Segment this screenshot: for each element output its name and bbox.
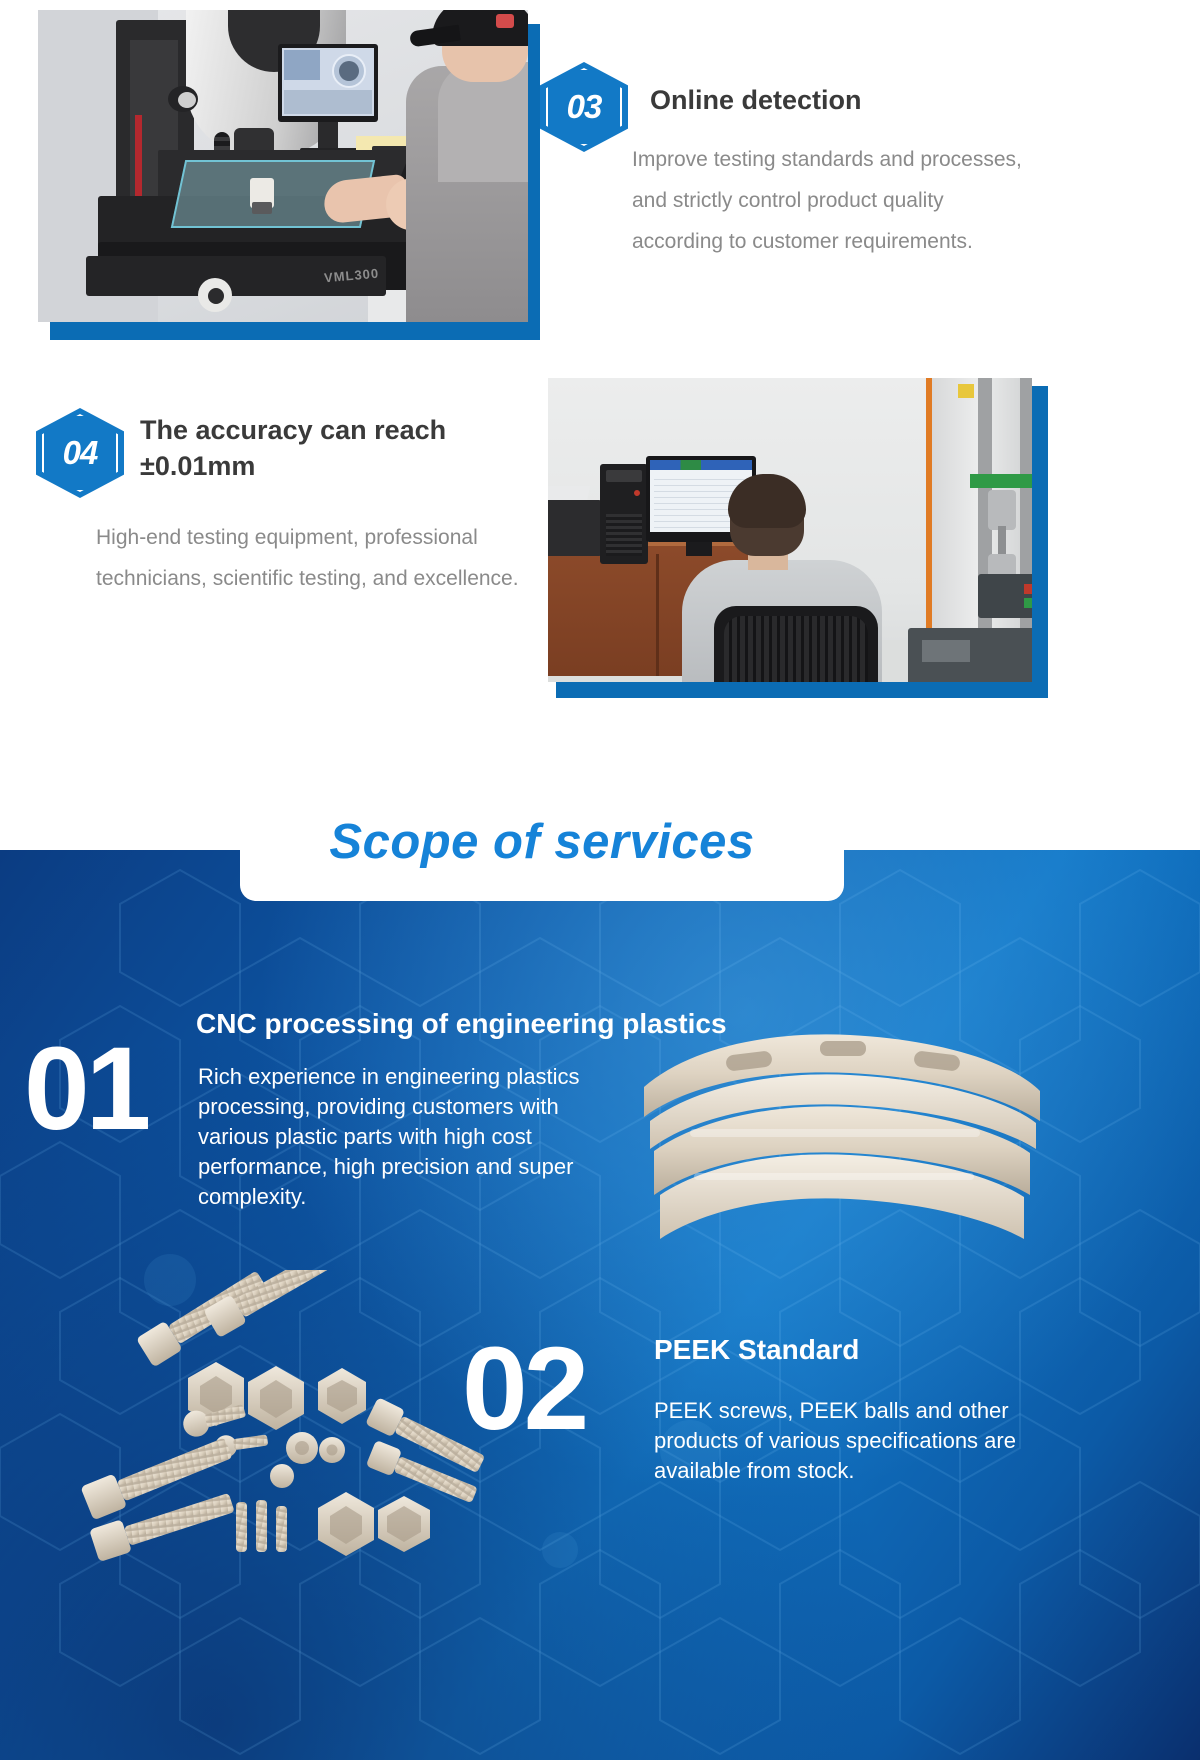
tensile-testing-machine-scene [548, 378, 1032, 682]
online-detection-photo: VML300 [38, 10, 528, 322]
feature-03-title: Online detection [650, 82, 1120, 118]
scope-of-services-title: Scope of services [329, 814, 754, 870]
vision-measuring-machine-scene: VML300 [38, 10, 528, 322]
peek-fasteners-image [30, 1270, 500, 1570]
feature-03-number-badge: 03 [540, 62, 632, 156]
tensile-testing-photo [548, 378, 1032, 682]
service-02-title: PEEK Standard [654, 1332, 1074, 1368]
feature-03-photo-frame: VML300 [38, 10, 538, 330]
feature-03-body: Improve testing standards and processes,… [632, 140, 1022, 263]
feature-04-number-badge: 04 [36, 408, 128, 502]
feature-03-number: 03 [540, 62, 628, 152]
feature-04-photo-frame [548, 378, 1048, 698]
feature-04-title: The accuracy can reach ±0.01mm [140, 412, 490, 485]
peek-curved-part-image [630, 1025, 1050, 1275]
service-02-body: PEEK screws, PEEK balls and other produc… [654, 1396, 1074, 1486]
service-01-number: 01 [24, 1030, 147, 1148]
scope-of-services-card: Scope of services [240, 783, 844, 901]
features-section: VML300 03 Online detection Improve testi… [0, 0, 1200, 850]
service-01-title: CNC processing of engineering plastics [196, 1006, 956, 1042]
service-01-body: Rich experience in engineering plastics … [198, 1062, 630, 1212]
feature-04-number: 04 [36, 408, 124, 498]
feature-04-body: High-end testing equipment, professional… [96, 518, 526, 600]
promo-page: VML300 03 Online detection Improve testi… [0, 0, 1200, 1760]
service-02-number: 02 [462, 1330, 585, 1448]
